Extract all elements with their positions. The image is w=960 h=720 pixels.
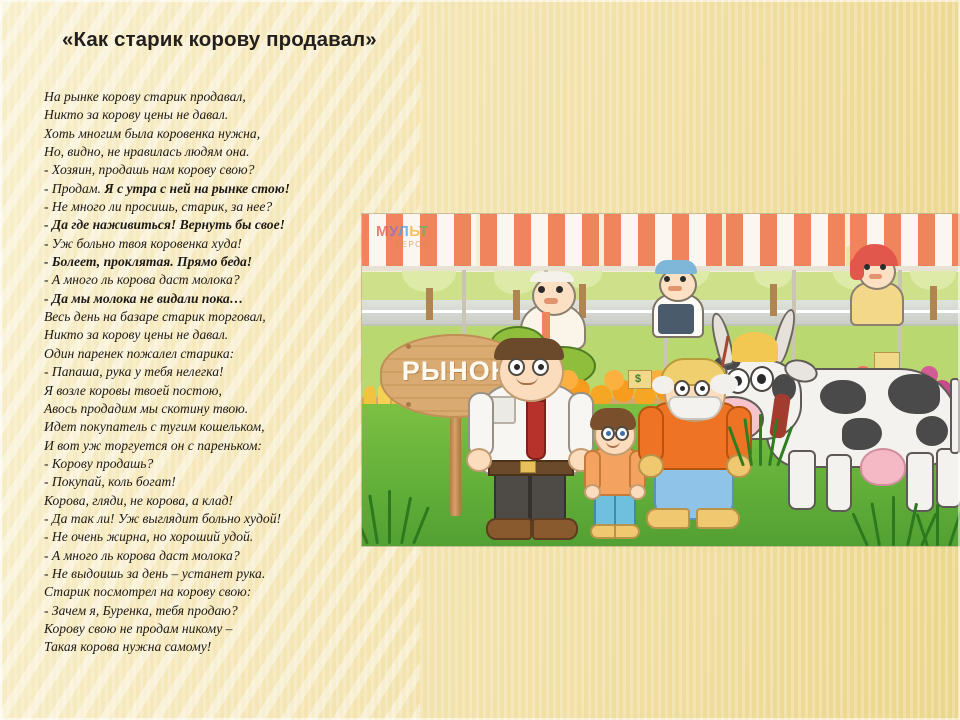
buyer-belt-buckle: [520, 461, 536, 473]
poem-line: Никто за корову цены не давал.: [44, 326, 374, 344]
boy-eye-right: [615, 426, 629, 441]
poem-line: Корова, гляди, не корова, а клад!: [44, 492, 374, 510]
poem-line: - Не выдоишь за день – устанет рука.: [44, 565, 374, 583]
old-man-shoe-left: [646, 508, 690, 529]
poem-line: Корову свою не продам никому –: [44, 620, 374, 638]
buyer-shoe-left: [486, 518, 532, 540]
boy-eye-left: [601, 426, 615, 441]
poem-line: - А много ль корова даст молока?: [44, 271, 374, 289]
buyer-eye-left: [508, 358, 525, 376]
old-man-shoe-right: [696, 508, 740, 529]
poem-line: На рынке корову старик продавал,: [44, 88, 374, 106]
poem-line: Хоть многим была коровенка нужна,: [44, 125, 374, 143]
boy-shoe-right: [614, 524, 640, 539]
old-man-hand-left: [638, 454, 664, 478]
poem-line: Такая корова нужна самому!: [44, 638, 374, 656]
watermark-logo: МУЛЬТ ГЕРОИ: [376, 224, 450, 250]
old-man-hair-left: [652, 376, 674, 394]
poem-line: Один паренек пожалел старика:: [44, 345, 374, 363]
poem-line: Никто за корову цены не давал.: [44, 106, 374, 124]
buyer-tie: [526, 400, 546, 460]
watermark-letter: У: [389, 223, 398, 240]
poem-line: - Зачем я, Буренка, тебя продаю?: [44, 602, 374, 620]
buyer-eye-right: [532, 358, 549, 376]
watermark-letter: М: [376, 223, 389, 240]
old-man-eye-right: [694, 380, 710, 397]
old-man-character: [642, 364, 746, 540]
poem-line: Старик посмотрел на корову свою:: [44, 583, 374, 601]
old-man-hair-right: [710, 374, 738, 394]
buyer-hand-left: [466, 448, 492, 472]
boy-hair: [590, 408, 636, 430]
poem-line: - Папаша, рука у тебя нелегка!: [44, 363, 374, 381]
boy-hand-left: [584, 484, 601, 500]
poem-text-block: На рынке корову старик продавал,Никто за…: [44, 88, 374, 657]
poem-line: - Хозяин, продашь нам корову свою?: [44, 161, 374, 179]
poem-line: Авось продадим мы скотину твою.: [44, 400, 374, 418]
poem-line: Я возле коровы твоей постою,: [44, 382, 374, 400]
poem-line: - Да мы молока не видали пока…: [44, 290, 374, 308]
poem-line: Идет покупатель с тугим кошельком,: [44, 418, 374, 436]
poem-line: - Да где наживиться! Вернуть бы свое!: [44, 216, 374, 234]
grass-tuft: [922, 502, 960, 546]
poem-line: - Продам. Я с утра с ней на рынке стою!: [44, 180, 374, 198]
watermark-letter: Л: [398, 223, 409, 240]
buyer-shoe-right: [532, 518, 578, 540]
watermark-letter: Ь: [409, 223, 419, 240]
poem-line: - Уж больно твоя коровенка худа!: [44, 235, 374, 253]
poem-line-bold-part: Я с утра с ней на рынке стою!: [104, 181, 290, 196]
poem-line: И вот уж торгуется он с пареньком:: [44, 437, 374, 455]
poem-line: - Покупай, коль богат!: [44, 473, 374, 491]
poem-line: - Корову продашь?: [44, 455, 374, 473]
old-man-moustache: [668, 396, 722, 420]
page-title: «Как старик корову продавал»: [62, 28, 377, 52]
bush-icon: [740, 414, 782, 466]
buyer-hair: [494, 338, 564, 360]
poem-line: - Не много ли просишь, старик, за нее?: [44, 198, 374, 216]
poem-line-plain-part: - Продам.: [44, 181, 104, 196]
poem-line: - Болеет, проклятая. Прямо беда!: [44, 253, 374, 271]
poem-line: - А много ль корова даст молока?: [44, 547, 374, 565]
old-man-eye-left: [674, 380, 690, 397]
illustration-market-scene: $ $: [362, 214, 960, 546]
watermark-letters: МУЛЬТ: [376, 224, 450, 239]
poem-line: Весь день на базаре старик торговал,: [44, 308, 374, 326]
boy-character: [584, 410, 642, 538]
grass-tuft: [362, 490, 422, 544]
watermark-letter: Т: [419, 223, 429, 240]
slide-canvas: «Как старик корову продавал» На рынке ко…: [0, 0, 960, 720]
buyer-man-character: [474, 342, 586, 538]
watermark-subtitle: ГЕРОИ: [376, 240, 450, 249]
boy-shoe-left: [590, 524, 616, 539]
poem-line: - Да так ли! Уж выглядит больно худой!: [44, 510, 374, 528]
poem-line: - Не очень жирна, но хороший удой.: [44, 528, 374, 546]
poem-line: Но, видно, не нравилась людям она.: [44, 143, 374, 161]
